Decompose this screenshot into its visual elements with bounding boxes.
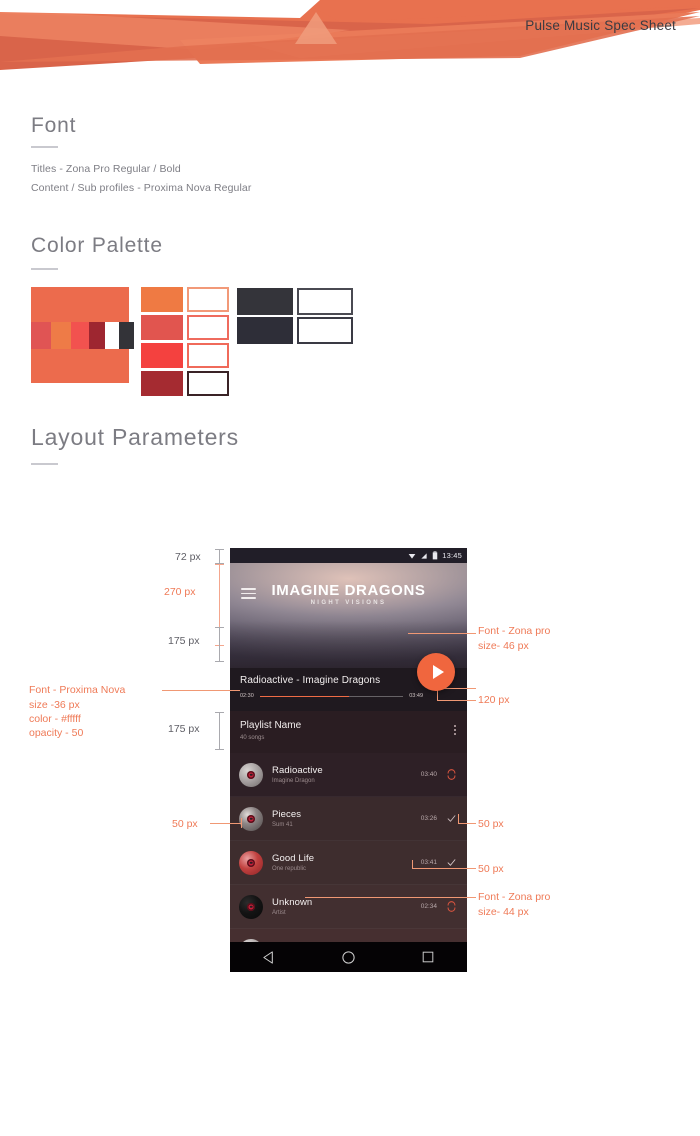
annotation-font-proxima-l4: opacity - 50 bbox=[29, 727, 83, 739]
song-duration: 03:26 bbox=[421, 815, 437, 822]
page-title: Pulse Music Spec Sheet bbox=[525, 18, 676, 33]
table-row[interactable]: Radioactive Imagine Dragon 03:40 bbox=[230, 753, 467, 797]
annotation-zona-44-l2: size- 44 px bbox=[478, 906, 529, 918]
annotation-175px-a: 175 px bbox=[168, 635, 200, 647]
leader-line bbox=[305, 897, 476, 898]
spec-sheet-page: Pulse Music Spec Sheet Font Titles - Zon… bbox=[0, 0, 700, 1136]
palette-dark-outline-1 bbox=[297, 288, 353, 315]
annotation-font-proxima-l1: Font - Proxima Nova bbox=[29, 684, 125, 696]
leader-line-v bbox=[412, 860, 413, 869]
album-thumb-icon bbox=[239, 895, 263, 919]
layout-section-rule bbox=[31, 463, 58, 465]
palette-mini-2 bbox=[51, 322, 71, 349]
palette-warm-fill-1 bbox=[141, 287, 183, 312]
dim-line bbox=[219, 549, 220, 564]
album-thumb-icon bbox=[239, 807, 263, 831]
progress-row[interactable]: 02:30 03:49 bbox=[240, 692, 457, 701]
play-icon bbox=[433, 665, 444, 679]
album-subtitle: NIGHT VISIONS bbox=[230, 600, 467, 606]
phone-mockup: 13:45 IMAGINE DRAGONS NIGHT VISIONS Radi… bbox=[230, 548, 467, 972]
total-time: 03:49 bbox=[409, 693, 423, 699]
palette-mini-6 bbox=[119, 322, 134, 349]
song-duration: 02:34 bbox=[421, 903, 437, 910]
palette-warm-outline-3 bbox=[187, 343, 229, 368]
dim-tick bbox=[215, 661, 224, 662]
font-section-title: Font bbox=[31, 114, 76, 138]
annotation-zona-46-l2: size- 46 px bbox=[478, 640, 529, 652]
playlist-header: Playlist Name 40 songs bbox=[230, 711, 467, 753]
progress-bar[interactable] bbox=[260, 696, 403, 697]
song-artist: One republic bbox=[272, 866, 421, 872]
album-title: IMAGINE DRAGONS bbox=[230, 582, 467, 599]
palette-mini-1 bbox=[31, 322, 51, 349]
leader-line bbox=[210, 823, 242, 824]
annotation-50px-right-b: 50 px bbox=[478, 863, 504, 875]
palette-section-title: Color Palette bbox=[31, 234, 163, 258]
palette-mini-5 bbox=[105, 322, 119, 349]
font-line-titles: Titles - Zona Pro Regular / Bold bbox=[31, 163, 181, 175]
leader-line bbox=[162, 690, 240, 691]
song-list: Radioactive Imagine Dragon 03:40 Pieces … bbox=[230, 753, 467, 972]
annotation-270px: 270 px bbox=[164, 586, 196, 598]
palette-warm-outline-4 bbox=[187, 371, 229, 396]
font-section-rule bbox=[31, 146, 58, 148]
table-row[interactable]: Unknown Artist 02:34 bbox=[230, 885, 467, 929]
layout-section-title: Layout Parameters bbox=[31, 424, 239, 451]
song-title: Pieces bbox=[272, 809, 421, 820]
repeat-icon[interactable] bbox=[446, 901, 457, 912]
leader-line bbox=[408, 633, 476, 634]
playlist-count: 40 songs bbox=[240, 735, 457, 741]
wifi-icon bbox=[408, 552, 416, 560]
palette-mini-4 bbox=[89, 322, 105, 349]
hamburger-icon[interactable] bbox=[241, 588, 256, 602]
palette-dark-outline-2 bbox=[297, 317, 353, 344]
leader-line bbox=[437, 700, 463, 701]
album-hero: IMAGINE DRAGONS NIGHT VISIONS bbox=[230, 563, 467, 668]
android-nav-bar bbox=[230, 942, 467, 972]
playlist-name: Playlist Name bbox=[240, 720, 457, 731]
annotation-72px: 72 px bbox=[175, 551, 201, 563]
play-button[interactable] bbox=[417, 653, 455, 691]
song-artist: Artist bbox=[272, 910, 421, 916]
palette-section-rule bbox=[31, 268, 58, 270]
annotation-50px-right-a: 50 px bbox=[478, 818, 504, 830]
palette-warm-fill-4 bbox=[141, 371, 183, 396]
annotation-120px: 120 px bbox=[478, 694, 510, 706]
palette-warm-outline-2 bbox=[187, 315, 229, 340]
annotation-font-proxima-l2: size -36 px bbox=[29, 699, 80, 711]
signal-icon bbox=[420, 552, 428, 560]
battery-icon bbox=[432, 551, 438, 560]
font-line-content: Content / Sub profiles - Proxima Nova Re… bbox=[31, 182, 251, 194]
dim-tick-orange bbox=[215, 564, 224, 565]
annotation-50px-left: 50 px bbox=[172, 818, 198, 830]
song-artist: Imagine Dragon bbox=[272, 778, 421, 784]
check-icon[interactable] bbox=[446, 813, 457, 824]
leader-line bbox=[462, 700, 476, 701]
song-artist: Sum 41 bbox=[272, 822, 421, 828]
check-icon[interactable] bbox=[446, 857, 457, 868]
back-triangle-icon[interactable] bbox=[262, 950, 277, 965]
status-time: 13:45 bbox=[442, 551, 462, 560]
palette-mini-3 bbox=[71, 322, 89, 349]
table-row[interactable]: Pieces Sum 41 03:26 bbox=[230, 797, 467, 841]
dim-line bbox=[219, 627, 220, 662]
repeat-icon[interactable] bbox=[446, 769, 457, 780]
kebab-menu-icon[interactable] bbox=[454, 725, 456, 737]
home-circle-icon[interactable] bbox=[341, 950, 356, 965]
dim-tick bbox=[215, 749, 224, 750]
palette-primary-swatch bbox=[31, 287, 129, 383]
recents-square-icon[interactable] bbox=[421, 950, 435, 964]
album-thumb-icon bbox=[239, 851, 263, 875]
song-title: Unknown bbox=[272, 897, 421, 908]
header-banner: Pulse Music Spec Sheet bbox=[0, 0, 700, 92]
dim-line bbox=[219, 712, 220, 750]
annotation-zona-46-l1: Font - Zona pro bbox=[478, 625, 550, 637]
palette-warm-fill-3 bbox=[141, 343, 183, 368]
palette-warm-fill-2 bbox=[141, 315, 183, 340]
annotation-font-proxima-l3: color - #fffff bbox=[29, 713, 81, 725]
song-duration: 03:40 bbox=[421, 771, 437, 778]
banner-graphic bbox=[0, 0, 700, 92]
annotation-zona-44-l1: Font - Zona pro bbox=[478, 891, 550, 903]
leader-line bbox=[412, 868, 476, 869]
palette-dark-fill-2 bbox=[237, 317, 293, 344]
leader-line bbox=[458, 823, 476, 824]
palette-dark-fill-1 bbox=[237, 288, 293, 315]
status-bar: 13:45 bbox=[230, 548, 467, 563]
leader-line-v bbox=[241, 818, 242, 828]
album-thumb-icon bbox=[239, 763, 263, 787]
table-row[interactable]: Good Life One republic 03:41 bbox=[230, 841, 467, 885]
song-duration: 03:41 bbox=[421, 859, 437, 866]
leader-line-v bbox=[458, 814, 459, 824]
song-title: Good Life bbox=[272, 853, 421, 864]
annotation-175px-b: 175 px bbox=[168, 723, 200, 735]
palette-warm-outline-1 bbox=[187, 287, 229, 312]
song-title: Radioactive bbox=[272, 765, 421, 776]
elapsed-time: 02:30 bbox=[240, 693, 254, 699]
